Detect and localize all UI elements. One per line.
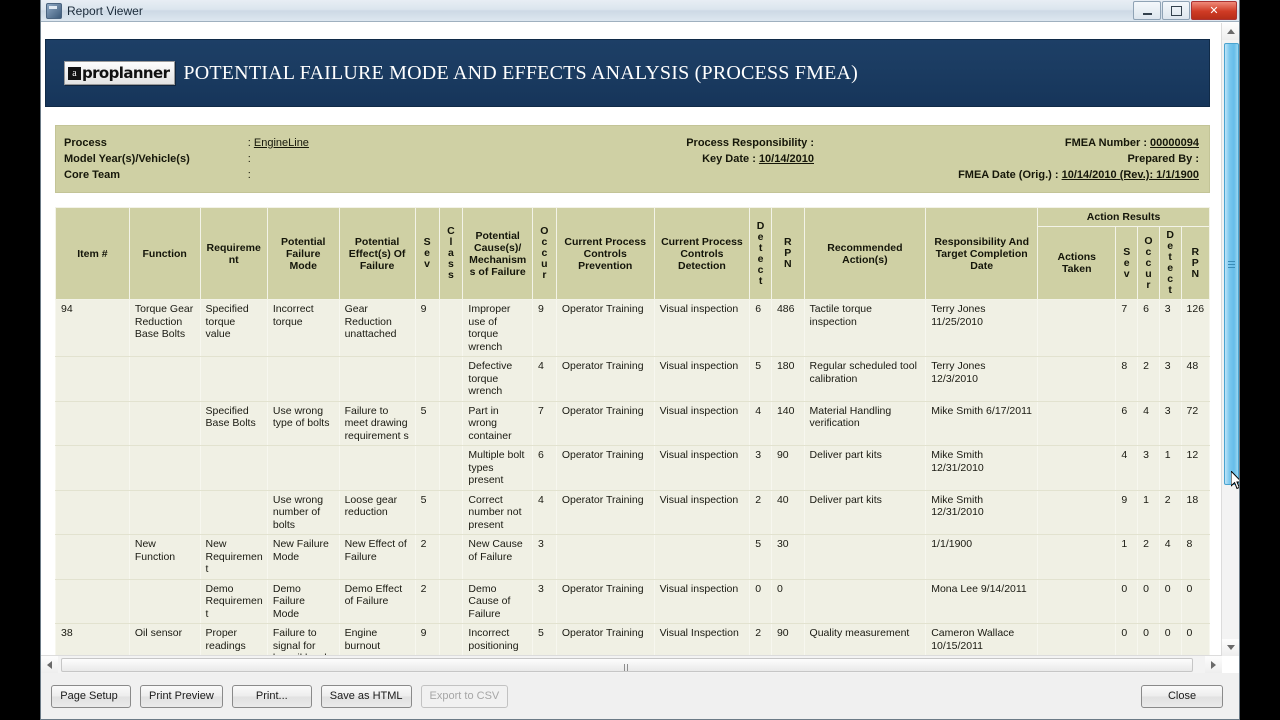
info-label-row: Prepared By : bbox=[1127, 151, 1199, 167]
cell-detection: Visual inspection bbox=[654, 446, 750, 491]
cell-detection: Visual inspection bbox=[654, 300, 750, 357]
cell-result-rpn: 8 bbox=[1181, 535, 1209, 580]
cell-cause: Correct number not present bbox=[463, 490, 533, 535]
info-value[interactable]: EngineLine bbox=[254, 137, 309, 149]
cell-result-detect: 3 bbox=[1159, 300, 1181, 357]
cell-rpn: 140 bbox=[771, 401, 804, 446]
cell-sev bbox=[415, 357, 439, 402]
cell-cause: Defective torque wrench bbox=[463, 357, 533, 402]
cell-responsibility: Mona Lee 9/14/2011 bbox=[926, 579, 1038, 624]
col-class: Class bbox=[439, 208, 463, 300]
cell-responsibility: Terry Jones 11/25/2010 bbox=[926, 300, 1038, 357]
col-recommended-actions: Recommended Action(s) bbox=[804, 208, 926, 300]
cell-result-detect: 3 bbox=[1159, 357, 1181, 402]
cell-actions-taken bbox=[1038, 579, 1116, 624]
cell-cause: Improper use of torque wrench bbox=[463, 300, 533, 357]
cell-effect bbox=[339, 446, 415, 491]
cell-requirement bbox=[200, 490, 267, 535]
cell-sev: 5 bbox=[415, 401, 439, 446]
scroll-up-arrow-icon[interactable] bbox=[1222, 23, 1239, 40]
col-sev: Sev bbox=[415, 208, 439, 300]
cell-result-sev: 8 bbox=[1116, 357, 1138, 402]
cell-sev: 5 bbox=[415, 490, 439, 535]
col-controls-detection: Current Process Controls Detection bbox=[654, 208, 750, 300]
cell-prevention: Operator Training bbox=[556, 446, 654, 491]
col-actions-taken: Actions Taken bbox=[1038, 227, 1116, 300]
col-detect: Detect bbox=[750, 208, 772, 300]
cell-result-detect: 0 bbox=[1159, 579, 1181, 624]
fmea-table: Item # Function Requireme nt Potential F… bbox=[55, 207, 1210, 656]
cell-occur: 9 bbox=[532, 300, 556, 357]
col-result-rpn: RPN bbox=[1181, 227, 1209, 300]
cell-function: Torque Gear Reduction Base Bolts bbox=[129, 300, 200, 357]
cell-item bbox=[56, 401, 130, 446]
col-responsibility: Responsibility And Target Completion Dat… bbox=[926, 208, 1038, 300]
table-group-header-row: Item # Function Requireme nt Potential F… bbox=[56, 208, 1210, 227]
cell-recommended bbox=[804, 535, 926, 580]
table-row: Use wrong number of boltsLoose gear redu… bbox=[56, 490, 1210, 535]
table-row: Demo Requiremen tDemo Failure ModeDemo E… bbox=[56, 579, 1210, 624]
cell-effect: New Effect of Failure bbox=[339, 535, 415, 580]
bottom-button-bar: Page Setup Print Preview Print... Save a… bbox=[41, 673, 1239, 719]
cell-class bbox=[439, 490, 463, 535]
cell-occur: 3 bbox=[532, 579, 556, 624]
cell-result-rpn: 72 bbox=[1181, 401, 1209, 446]
cell-result-occur: 6 bbox=[1138, 300, 1160, 357]
info-label: Key Date bbox=[702, 153, 749, 165]
cell-item bbox=[56, 535, 130, 580]
info-column-right: FMEA Number : 00000094 Prepared By : FME… bbox=[814, 135, 1199, 183]
info-label: Prepared By bbox=[1127, 153, 1192, 165]
cell-actions-taken bbox=[1038, 401, 1116, 446]
cell-requirement bbox=[200, 357, 267, 402]
cell-function: New Function bbox=[129, 535, 200, 580]
title-bar: Report Viewer ✕ bbox=[41, 0, 1239, 22]
cell-class bbox=[439, 357, 463, 402]
cell-actions-taken bbox=[1038, 490, 1116, 535]
close-button[interactable]: Close bbox=[1141, 685, 1223, 708]
cell-class bbox=[439, 535, 463, 580]
proplanner-logo: a proplanner bbox=[64, 61, 175, 85]
cell-detect: 4 bbox=[750, 401, 772, 446]
cell-detect: 2 bbox=[750, 624, 772, 657]
cell-failure-mode: Demo Failure Mode bbox=[267, 579, 339, 624]
logo-wordmark: proplanner bbox=[82, 64, 169, 82]
cell-actions-taken bbox=[1038, 357, 1116, 402]
cell-sev: 2 bbox=[415, 579, 439, 624]
cell-actions-taken bbox=[1038, 624, 1116, 657]
vertical-scrollbar-thumb[interactable] bbox=[1224, 43, 1239, 485]
cell-prevention: Operator Training bbox=[556, 579, 654, 624]
cell-rpn: 0 bbox=[771, 579, 804, 624]
vertical-scrollbar[interactable] bbox=[1221, 23, 1239, 656]
info-separator: : bbox=[1143, 137, 1147, 149]
cell-sev: 2 bbox=[415, 535, 439, 580]
info-left-values: : EngineLine : : bbox=[248, 135, 309, 183]
cell-detect: 0 bbox=[750, 579, 772, 624]
cell-detect: 2 bbox=[750, 490, 772, 535]
report-viewer-window: Report Viewer ✕ a proplanner POTENTIAL F… bbox=[40, 0, 1240, 720]
cell-requirement: New Requiremen t bbox=[200, 535, 267, 580]
report-viewport: a proplanner POTENTIAL FAILURE MODE AND … bbox=[41, 23, 1222, 656]
cell-item bbox=[56, 579, 130, 624]
cell-occur: 5 bbox=[532, 624, 556, 657]
cell-responsibility: Terry Jones 12/3/2010 bbox=[926, 357, 1038, 402]
cell-cause: New Cause of Failure bbox=[463, 535, 533, 580]
cell-failure-mode: Failure to signal for low oil levels bbox=[267, 624, 339, 657]
cell-requirement: Specified torque value bbox=[200, 300, 267, 357]
cell-detection bbox=[654, 535, 750, 580]
scroll-right-arrow-icon[interactable] bbox=[1205, 656, 1222, 673]
cell-responsibility: Mike Smith 12/31/2010 bbox=[926, 446, 1038, 491]
cell-result-occur: 4 bbox=[1138, 401, 1160, 446]
window-controls: ✕ bbox=[1132, 1, 1237, 20]
cell-result-sev: 0 bbox=[1116, 579, 1138, 624]
minimize-button[interactable] bbox=[1133, 1, 1161, 20]
cell-failure-mode: New Failure Mode bbox=[267, 535, 339, 580]
cell-item: 38 bbox=[56, 624, 130, 657]
info-label: FMEA Date (Orig.) bbox=[958, 169, 1052, 181]
cell-occur: 4 bbox=[532, 490, 556, 535]
cell-occur: 4 bbox=[532, 357, 556, 402]
info-label-row: Process Responsibility : bbox=[686, 135, 814, 151]
cell-recommended: Material Handling verification bbox=[804, 401, 926, 446]
info-column-middle: Process Responsibility : Key Date : 10/1… bbox=[514, 135, 814, 183]
client-area: a proplanner POTENTIAL FAILURE MODE AND … bbox=[41, 22, 1239, 719]
page-setup-button[interactable]: Page Setup bbox=[51, 685, 131, 708]
col-controls-prevention: Current Process Controls Prevention bbox=[556, 208, 654, 300]
cell-result-detect: 3 bbox=[1159, 401, 1181, 446]
info-label: FMEA Number bbox=[1065, 137, 1140, 149]
horizontal-scrollbar[interactable] bbox=[41, 655, 1222, 673]
info-value-row: : bbox=[248, 167, 309, 183]
info-separator: : bbox=[248, 153, 251, 165]
export-to-csv-button: Export to CSV bbox=[421, 685, 509, 708]
cell-rpn: 90 bbox=[771, 446, 804, 491]
cell-function bbox=[129, 401, 200, 446]
col-rpn: RPN bbox=[771, 208, 804, 300]
info-right-labels: FMEA Number : 00000094 Prepared By : FME… bbox=[814, 135, 1199, 183]
cell-requirement: Demo Requiremen t bbox=[200, 579, 267, 624]
cell-recommended: Deliver part kits bbox=[804, 490, 926, 535]
cell-detect: 5 bbox=[750, 535, 772, 580]
cell-function bbox=[129, 579, 200, 624]
cell-failure-mode: Incorrect torque bbox=[267, 300, 339, 357]
cell-result-sev: 0 bbox=[1116, 624, 1138, 657]
cell-prevention: Operator Training bbox=[556, 401, 654, 446]
cell-effect: Loose gear reduction bbox=[339, 490, 415, 535]
table-row: Specified Base BoltsUse wrong type of bo… bbox=[56, 401, 1210, 446]
cell-responsibility: Mike Smith 6/17/2011 bbox=[926, 401, 1038, 446]
cell-result-sev: 9 bbox=[1116, 490, 1138, 535]
cell-recommended bbox=[804, 579, 926, 624]
cell-function: Oil sensor bbox=[129, 624, 200, 657]
cell-prevention: Operator Training bbox=[556, 490, 654, 535]
cell-responsibility: Mike Smith 12/31/2010 bbox=[926, 490, 1038, 535]
cell-detect: 3 bbox=[750, 446, 772, 491]
cell-function bbox=[129, 357, 200, 402]
cell-sev bbox=[415, 446, 439, 491]
col-result-occur: Occur bbox=[1138, 227, 1160, 300]
col-function: Function bbox=[129, 208, 200, 300]
cell-result-occur: 0 bbox=[1138, 624, 1160, 657]
cell-actions-taken bbox=[1038, 535, 1116, 580]
cell-rpn: 180 bbox=[771, 357, 804, 402]
cell-result-detect: 0 bbox=[1159, 624, 1181, 657]
cell-result-rpn: 18 bbox=[1181, 490, 1209, 535]
app-icon bbox=[46, 3, 62, 19]
cell-item bbox=[56, 490, 130, 535]
col-result-sev: Sev bbox=[1116, 227, 1138, 300]
col-requirement: Requireme nt bbox=[200, 208, 267, 300]
cell-prevention: Operator Training bbox=[556, 357, 654, 402]
info-label-row: FMEA Date (Orig.) : 10/14/2010 (Rev.): 1… bbox=[958, 167, 1199, 183]
cell-result-rpn: 126 bbox=[1181, 300, 1209, 357]
cell-class bbox=[439, 300, 463, 357]
cell-sev: 9 bbox=[415, 300, 439, 357]
cell-rpn: 30 bbox=[771, 535, 804, 580]
cell-function bbox=[129, 446, 200, 491]
cell-failure-mode bbox=[267, 446, 339, 491]
report-info-block: Process Model Year(s)/Vehicle(s) Core Te… bbox=[55, 125, 1210, 193]
cell-cause: Part in wrong container bbox=[463, 401, 533, 446]
cell-result-sev: 4 bbox=[1116, 446, 1138, 491]
cell-result-sev: 1 bbox=[1116, 535, 1138, 580]
window-title: Report Viewer bbox=[67, 4, 143, 18]
cell-cause: Incorrect positioning bbox=[463, 624, 533, 657]
info-left-labels: Process Model Year(s)/Vehicle(s) Core Te… bbox=[64, 135, 190, 183]
logo-mark: a bbox=[68, 67, 81, 80]
report-title: POTENTIAL FAILURE MODE AND EFFECTS ANALY… bbox=[183, 62, 858, 85]
table-row: 38Oil sensorProper readingsFailure to si… bbox=[56, 624, 1210, 657]
col-potential-causes: Potential Cause(s)/ Mechanism s of Failu… bbox=[463, 208, 533, 300]
info-label: Process Responsibility bbox=[686, 137, 807, 149]
cell-detect: 5 bbox=[750, 357, 772, 402]
cell-cause: Multiple bolt types present bbox=[463, 446, 533, 491]
cell-responsibility: Cameron Wallace 10/15/2011 bbox=[926, 624, 1038, 657]
info-label-row: Key Date : 10/14/2010 bbox=[702, 151, 814, 167]
cell-occur: 3 bbox=[532, 535, 556, 580]
table-row: 94Torque Gear Reduction Base BoltsSpecif… bbox=[56, 300, 1210, 357]
cell-requirement bbox=[200, 446, 267, 491]
cell-failure-mode: Use wrong number of bolts bbox=[267, 490, 339, 535]
cell-occur: 6 bbox=[532, 446, 556, 491]
cell-result-rpn: 0 bbox=[1181, 579, 1209, 624]
col-group-action-results: Action Results bbox=[1038, 208, 1210, 227]
cell-result-occur: 2 bbox=[1138, 535, 1160, 580]
cell-effect bbox=[339, 357, 415, 402]
cell-result-rpn: 48 bbox=[1181, 357, 1209, 402]
close-window-button[interactable]: ✕ bbox=[1191, 1, 1237, 20]
col-occur: Occur bbox=[532, 208, 556, 300]
cell-effect: Engine burnout bbox=[339, 624, 415, 657]
info-separator: : bbox=[1195, 153, 1199, 165]
info-separator: : bbox=[248, 169, 251, 181]
save-as-html-button[interactable]: Save as HTML bbox=[321, 685, 412, 708]
scroll-left-arrow-icon[interactable] bbox=[41, 656, 58, 673]
report-scroll-container: a proplanner POTENTIAL FAILURE MODE AND … bbox=[41, 23, 1239, 673]
cell-result-occur: 3 bbox=[1138, 446, 1160, 491]
info-column-left: Process Model Year(s)/Vehicle(s) Core Te… bbox=[64, 135, 514, 183]
report-page: a proplanner POTENTIAL FAILURE MODE AND … bbox=[41, 23, 1222, 656]
cell-recommended: Quality measurement bbox=[804, 624, 926, 657]
cell-item bbox=[56, 357, 130, 402]
horizontal-scrollbar-thumb[interactable] bbox=[61, 658, 1193, 672]
cell-class bbox=[439, 624, 463, 657]
cell-class bbox=[439, 579, 463, 624]
cell-result-occur: 0 bbox=[1138, 579, 1160, 624]
cell-function bbox=[129, 490, 200, 535]
cell-result-occur: 2 bbox=[1138, 357, 1160, 402]
fmea-table-head: Item # Function Requireme nt Potential F… bbox=[56, 208, 1210, 300]
cell-result-detect: 1 bbox=[1159, 446, 1181, 491]
info-label: Model Year(s)/Vehicle(s) bbox=[64, 151, 190, 167]
cell-prevention: Operator Training bbox=[556, 624, 654, 657]
scroll-down-arrow-icon[interactable] bbox=[1222, 639, 1239, 656]
info-separator: : bbox=[248, 137, 251, 149]
cell-detection: Visual inspection bbox=[654, 357, 750, 402]
cell-failure-mode bbox=[267, 357, 339, 402]
cell-cause: Demo Cause of Failure bbox=[463, 579, 533, 624]
table-row: Defective torque wrench4Operator Trainin… bbox=[56, 357, 1210, 402]
cell-detect: 6 bbox=[750, 300, 772, 357]
cell-class bbox=[439, 446, 463, 491]
cell-occur: 7 bbox=[532, 401, 556, 446]
cell-effect: Gear Reduction unattached bbox=[339, 300, 415, 357]
cell-result-rpn: 0 bbox=[1181, 624, 1209, 657]
cell-effect: Failure to meet drawing requirement s bbox=[339, 401, 415, 446]
info-value[interactable]: 10/14/2010 bbox=[759, 153, 814, 165]
info-value-row: : EngineLine bbox=[248, 135, 309, 151]
info-separator: : bbox=[752, 153, 756, 165]
cell-result-detect: 4 bbox=[1159, 535, 1181, 580]
cell-detection: Visual inspection bbox=[654, 490, 750, 535]
cell-recommended: Regular scheduled tool calibration bbox=[804, 357, 926, 402]
report-banner: a proplanner POTENTIAL FAILURE MODE AND … bbox=[45, 39, 1210, 107]
cell-prevention bbox=[556, 535, 654, 580]
fmea-table-body: 94Torque Gear Reduction Base BoltsSpecif… bbox=[56, 300, 1210, 657]
cell-recommended: Tactile torque inspection bbox=[804, 300, 926, 357]
print-preview-button[interactable]: Print Preview bbox=[140, 685, 223, 708]
info-value[interactable]: 00000094 bbox=[1150, 137, 1199, 149]
cell-sev: 9 bbox=[415, 624, 439, 657]
col-potential-effects: Potential Effect(s) Of Failure bbox=[339, 208, 415, 300]
cell-result-sev: 7 bbox=[1116, 300, 1138, 357]
cell-result-occur: 1 bbox=[1138, 490, 1160, 535]
cell-item bbox=[56, 446, 130, 491]
cell-class bbox=[439, 401, 463, 446]
restore-button[interactable] bbox=[1162, 1, 1190, 20]
cell-failure-mode: Use wrong type of bolts bbox=[267, 401, 339, 446]
cell-actions-taken bbox=[1038, 446, 1116, 491]
cell-responsibility: 1/1/1900 bbox=[926, 535, 1038, 580]
info-label: Core Team bbox=[64, 167, 190, 183]
cell-detection: Visual Inspection bbox=[654, 624, 750, 657]
cell-recommended: Deliver part kits bbox=[804, 446, 926, 491]
scrollbar-grip-icon bbox=[1228, 261, 1235, 267]
info-value-row: : bbox=[248, 151, 309, 167]
col-item: Item # bbox=[56, 208, 130, 300]
cell-result-rpn: 12 bbox=[1181, 446, 1209, 491]
cell-result-sev: 6 bbox=[1116, 401, 1138, 446]
cell-detection: Visual inspection bbox=[654, 401, 750, 446]
info-middle-labels: Process Responsibility : Key Date : 10/1… bbox=[514, 135, 814, 183]
info-label: Process bbox=[64, 135, 190, 151]
scrollbar-grip-icon bbox=[624, 662, 630, 669]
cell-detection: Visual inspection bbox=[654, 579, 750, 624]
cell-rpn: 486 bbox=[771, 300, 804, 357]
col-potential-failure-mode: Potential Failure Mode bbox=[267, 208, 339, 300]
cell-rpn: 90 bbox=[771, 624, 804, 657]
info-value[interactable]: 10/14/2010 (Rev.): 1/1/1900 bbox=[1062, 169, 1199, 181]
cell-requirement: Proper readings bbox=[200, 624, 267, 657]
cell-actions-taken bbox=[1038, 300, 1116, 357]
cell-item: 94 bbox=[56, 300, 130, 357]
cell-effect: Demo Effect of Failure bbox=[339, 579, 415, 624]
table-row: Multiple bolt types present6Operator Tra… bbox=[56, 446, 1210, 491]
info-separator: : bbox=[1055, 169, 1059, 181]
col-result-detect: Detect bbox=[1159, 227, 1181, 300]
print-button[interactable]: Print... bbox=[232, 685, 312, 708]
cell-requirement: Specified Base Bolts bbox=[200, 401, 267, 446]
info-label-row: FMEA Number : 00000094 bbox=[1065, 135, 1199, 151]
table-row: New FunctionNew Requiremen tNew Failure … bbox=[56, 535, 1210, 580]
cell-result-detect: 2 bbox=[1159, 490, 1181, 535]
cell-prevention: Operator Training bbox=[556, 300, 654, 357]
cell-rpn: 40 bbox=[771, 490, 804, 535]
